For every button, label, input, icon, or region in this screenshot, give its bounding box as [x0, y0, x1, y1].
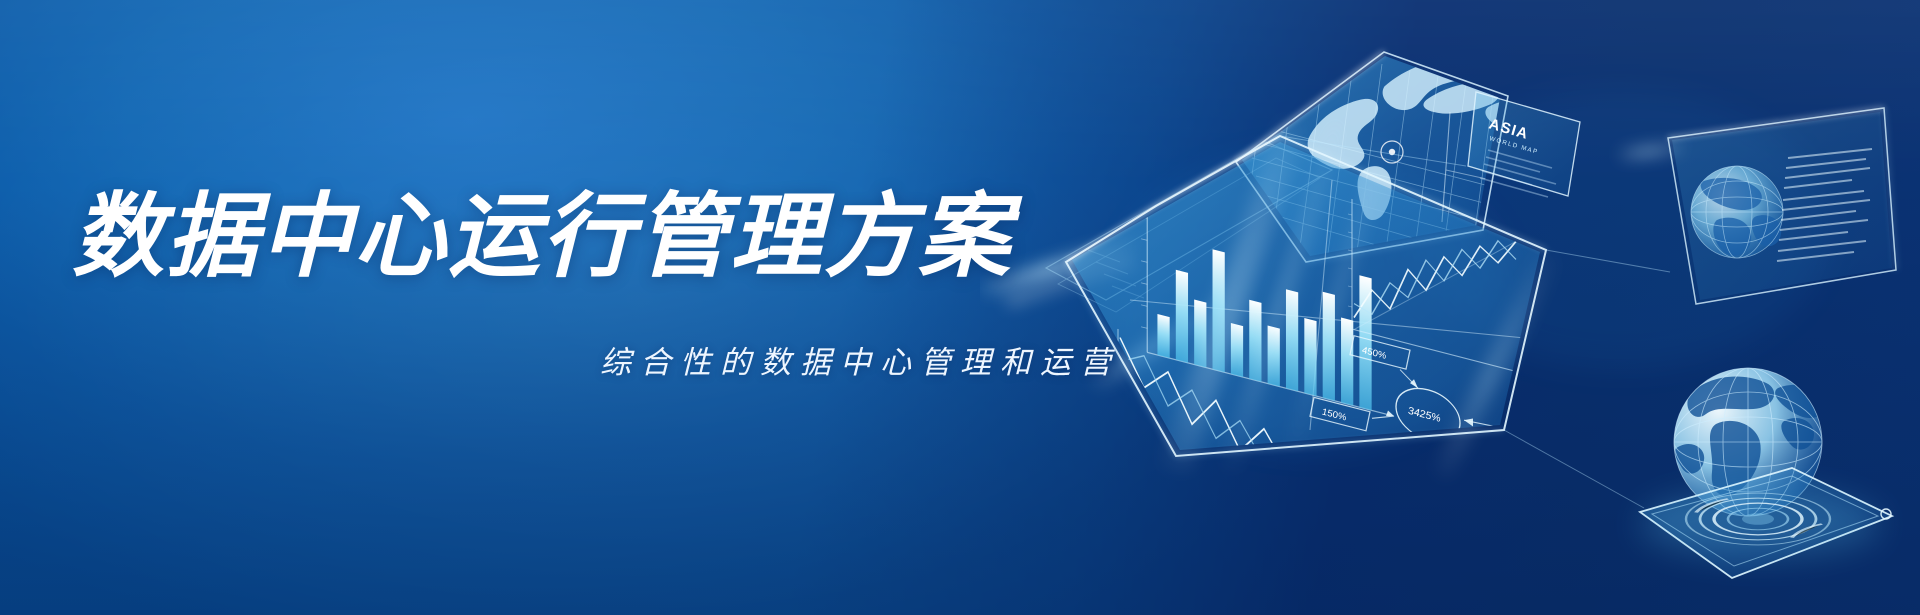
page-subtitle: 综合性的数据中心管理和运营 [600, 344, 1120, 381]
flow-label-right: 350% [1518, 429, 1544, 446]
hero-banner: ASIA WORLD MAP [0, 0, 1920, 615]
platform-glow [1640, 490, 1880, 558]
hero-text-block: 数据中心运行管理方案 综合性的数据中心管理和运营 [0, 0, 1080, 615]
hologram-svg: ASIA WORLD MAP [980, 0, 1920, 615]
flow-node-right: 350% [1504, 416, 1572, 458]
globe-platform-group [1640, 368, 1892, 578]
page-title: 数据中心运行管理方案 [72, 188, 1012, 287]
hologram-illustration: ASIA WORLD MAP [980, 0, 1920, 615]
text-panel-globe [1691, 166, 1783, 258]
